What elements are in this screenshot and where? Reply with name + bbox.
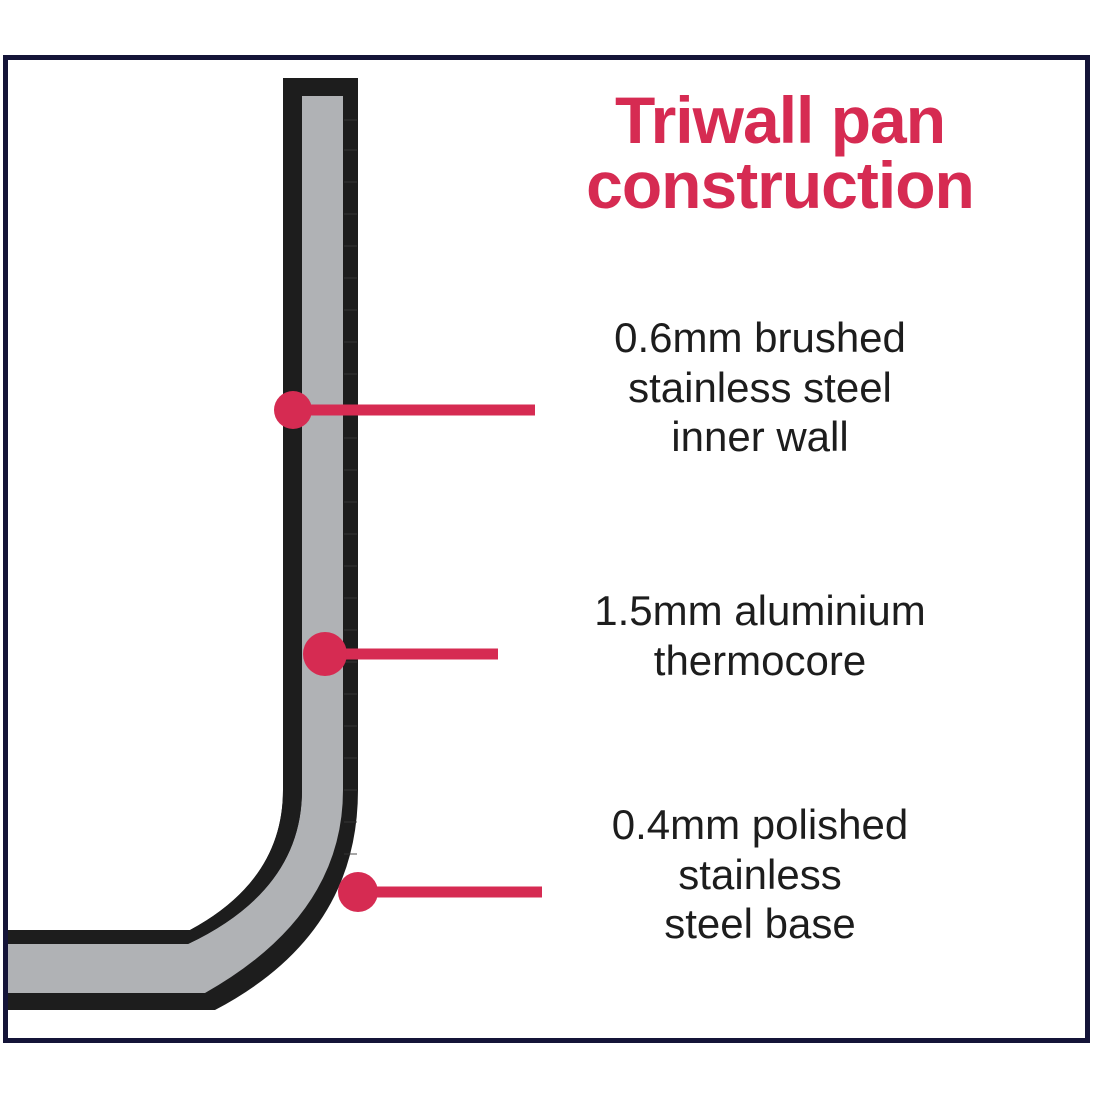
callout-dot-inner-wall — [274, 391, 312, 429]
callout-label-line: 1.5mm aluminium — [515, 586, 1005, 636]
callout-dot-thermocore — [303, 632, 347, 676]
diagram-canvas: Triwall pan construction 0.6mm brushed s… — [0, 0, 1100, 1100]
callout-label-line: stainless — [540, 850, 980, 900]
callout-label-line: stainless steel — [540, 363, 980, 413]
title-line-1: Triwall pan — [520, 88, 1040, 153]
title-line-2: construction — [520, 153, 1040, 218]
wall-rim-cap — [283, 78, 358, 96]
callout-label-thermocore: 1.5mm aluminium thermocore — [515, 586, 1005, 685]
inner-steel-layer — [0, 78, 302, 944]
page-title: Triwall pan construction — [520, 88, 1040, 217]
callout-label-line: thermocore — [515, 636, 1005, 686]
callout-label-steel-base: 0.4mm polished stainless steel base — [540, 800, 980, 949]
callout-label-line: steel base — [540, 899, 980, 949]
callout-label-line: inner wall — [540, 412, 980, 462]
callout-label-inner-wall: 0.6mm brushed stainless steel inner wall — [540, 313, 980, 462]
callout-dot-steel-base — [338, 872, 378, 912]
callout-label-line: 0.4mm polished — [540, 800, 980, 850]
callout-label-line: 0.6mm brushed — [540, 313, 980, 363]
